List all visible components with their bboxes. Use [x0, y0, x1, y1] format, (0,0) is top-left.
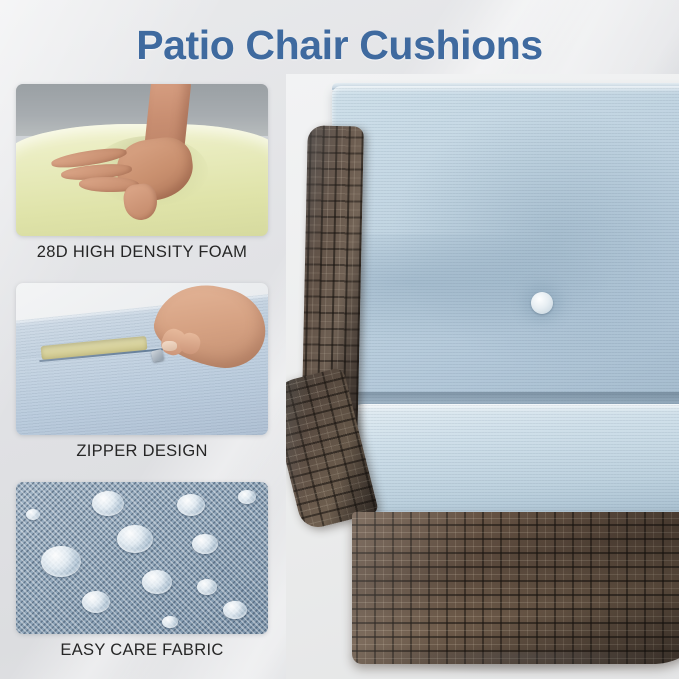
- feature-caption-easy-care-fabric: EASY CARE FABRIC: [16, 634, 268, 662]
- back-cushion-crease: [346, 234, 646, 354]
- feature-item-high-density-foam: 28D HIGH DENSITY FOAM: [16, 84, 268, 264]
- water-droplet: [117, 525, 153, 553]
- feature-caption-zipper-design: ZIPPER DESIGN: [16, 435, 268, 463]
- feature-item-easy-care-fabric: EASY CARE FABRIC: [16, 482, 268, 662]
- zipper-photo: [16, 283, 268, 435]
- wicker-sheen: [352, 512, 679, 664]
- chair-floor-shadow: [346, 652, 679, 674]
- foam-press-photo: [16, 84, 268, 236]
- feature-caption-high-density-foam: 28D HIGH DENSITY FOAM: [16, 236, 268, 264]
- water-droplet: [223, 601, 247, 620]
- feature-list: 28D HIGH DENSITY FOAM ZIPPER DESIG: [16, 84, 268, 679]
- water-beading-photo: [16, 482, 268, 634]
- water-droplet: [82, 591, 110, 613]
- chair-base-wicker: [352, 512, 679, 664]
- water-droplet: [92, 491, 124, 516]
- feature-item-zipper-design: ZIPPER DESIGN: [16, 283, 268, 463]
- seat-cushion: [346, 404, 679, 514]
- fingernail-shape: [162, 341, 177, 352]
- water-droplet: [238, 490, 256, 504]
- water-droplet: [41, 546, 81, 577]
- fabric-weave-texture: [346, 404, 679, 514]
- product-infographic: Patio Chair Cushions 28D HIGH DENSITY FO…: [0, 0, 679, 679]
- water-droplet: [142, 570, 172, 593]
- page-title: Patio Chair Cushions: [0, 22, 679, 69]
- patio-chair-photo: [286, 74, 679, 679]
- tufted-button: [531, 292, 553, 314]
